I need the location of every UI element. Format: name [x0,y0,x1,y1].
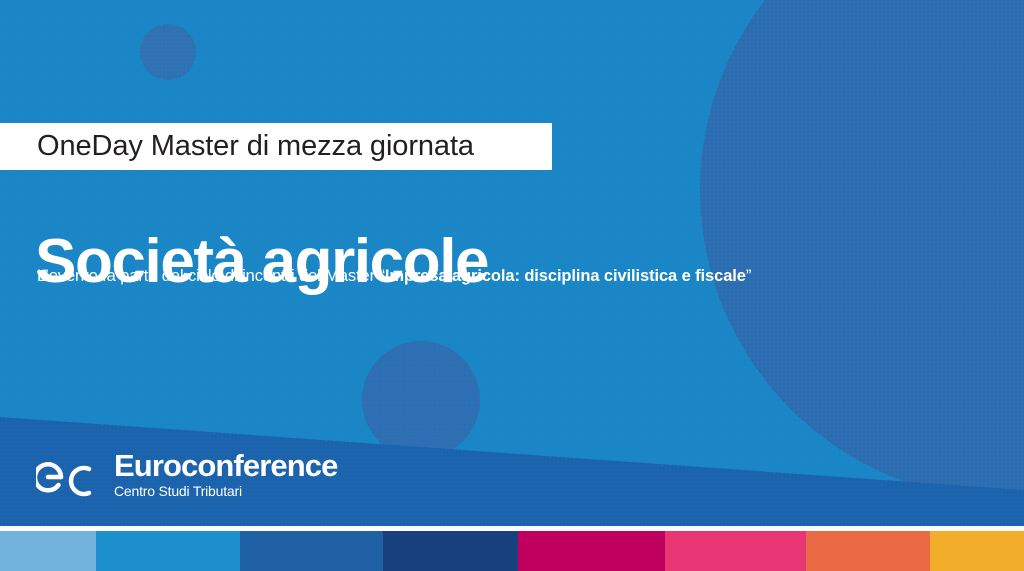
subtitle-suffix: ” [746,267,751,285]
color-strip-block-amber [930,531,1024,571]
circle-texture-overlay [362,341,480,459]
color-strip-block-steel-blue [240,531,383,571]
logo-wordmark: Euroconference Centro Studi Tributari [114,450,337,498]
euroconference-logo: Euroconference Centro Studi Tributari [36,450,337,502]
circle-texture-overlay [140,24,196,80]
color-strip-block-navy [383,531,518,571]
decorative-circle-medium [362,341,480,459]
decorative-circle-small [140,24,196,80]
color-strip-block-orange [806,531,930,571]
subtitle-course-name: Impresa agricola: disciplina civilistica… [385,267,746,285]
color-strip-block-pink [665,531,806,571]
logo-brand-name: Euroconference [114,450,337,481]
kicker-band: OneDay Master di mezza giornata [0,123,552,170]
color-strip-block-azure [96,531,240,571]
kicker-label: OneDay Master di mezza giornata [37,130,474,163]
event-banner: OneDay Master di mezza giornata Società … [0,0,1024,571]
color-strip-block-magenta [518,531,665,571]
color-strip-block-light-blue [0,531,96,571]
subtitle-prefix: L’evento fa parte del ciclo di incontri … [37,267,385,285]
ec-monogram-icon [36,452,106,502]
subtitle: L’evento fa parte del ciclo di incontri … [37,267,751,286]
color-strip [0,531,1024,571]
logo-tagline: Centro Studi Tributari [114,484,337,498]
